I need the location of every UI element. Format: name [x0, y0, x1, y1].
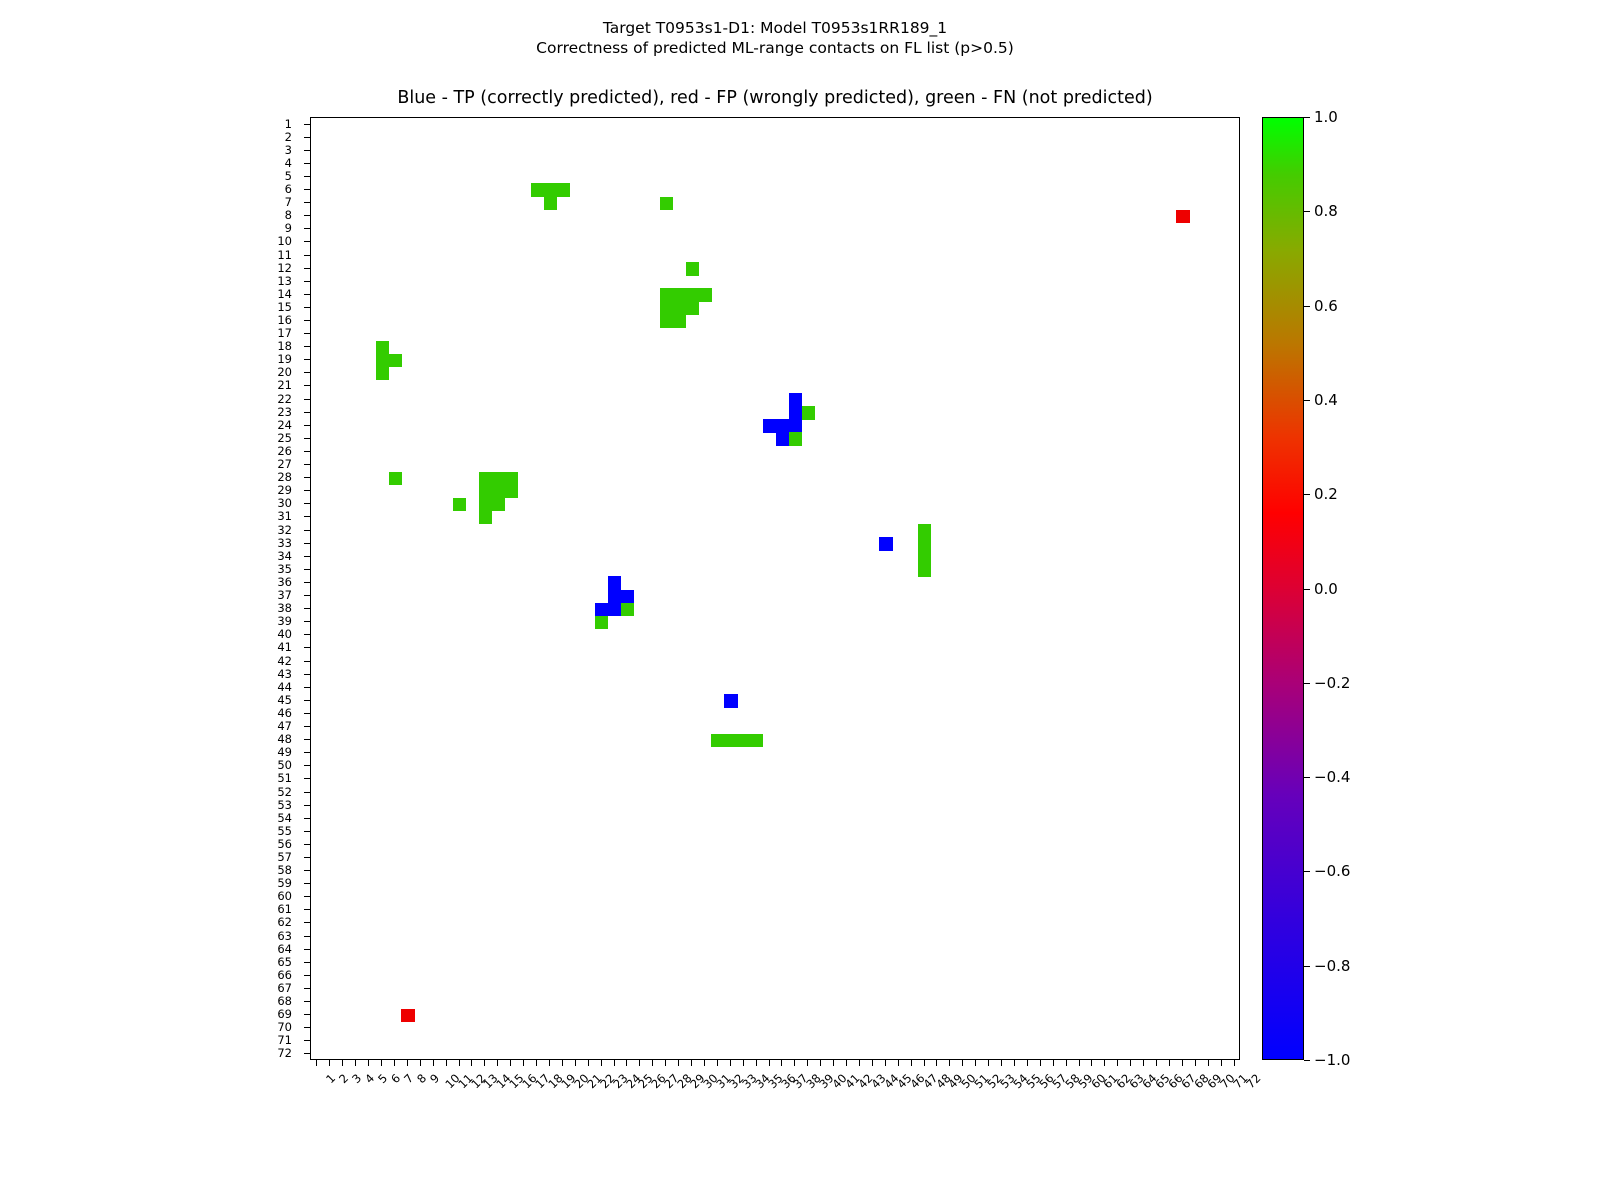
y-tick-label: 6 — [285, 182, 292, 196]
x-tick-mark — [807, 1060, 808, 1066]
contact-cell-fn — [686, 301, 699, 314]
x-tick-mark — [1091, 1060, 1092, 1066]
contact-cell-fn — [699, 288, 712, 301]
y-tick-label: 62 — [277, 915, 292, 929]
x-tick-label: 1 — [324, 1071, 339, 1086]
colorbar-tick-label: −0.2 — [1314, 674, 1350, 692]
contact-cell-layer — [311, 118, 1239, 1059]
x-tick-mark — [949, 1060, 950, 1066]
y-tick-label: 4 — [285, 156, 292, 170]
contact-cell-fn — [918, 550, 931, 563]
contact-cell-fn — [686, 262, 699, 275]
y-tick-label: 9 — [285, 221, 292, 235]
x-tick-mark — [433, 1060, 434, 1066]
contact-cell-fn — [789, 432, 802, 445]
suptitle-line-2: Correctness of predicted ML-range contac… — [0, 38, 1550, 58]
x-tick-mark — [471, 1060, 472, 1066]
x-tick-mark — [549, 1060, 550, 1066]
x-tick-mark — [743, 1060, 744, 1066]
x-tick-mark — [407, 1060, 408, 1066]
contact-cell-fn — [686, 288, 699, 301]
contact-cell-fn — [673, 288, 686, 301]
y-tick-label: 29 — [277, 483, 292, 497]
contact-cell-fn — [389, 472, 402, 485]
y-tick-label: 25 — [277, 431, 292, 445]
colorbar-tick-label: 1.0 — [1314, 108, 1338, 126]
contact-cell-fn — [479, 485, 492, 498]
x-tick-mark — [614, 1060, 615, 1066]
x-tick-mark — [355, 1060, 356, 1066]
y-tick-label: 65 — [277, 955, 292, 969]
y-tick-label: 23 — [277, 405, 292, 419]
colorbar-tick-label: −0.6 — [1314, 862, 1350, 880]
colorbar-tick-mark — [1304, 211, 1310, 212]
y-tick-label: 43 — [277, 667, 292, 681]
y-tick-label: 36 — [277, 575, 292, 589]
contact-cell-tp — [776, 432, 789, 445]
x-tick-mark — [988, 1060, 989, 1066]
x-tick-label: 72 — [1243, 1071, 1263, 1091]
colorbar-tick-label: 0.6 — [1314, 297, 1338, 315]
x-tick-mark — [1169, 1060, 1170, 1066]
x-tick-mark — [1040, 1060, 1041, 1066]
y-tick-label: 15 — [277, 300, 292, 314]
x-tick-mark — [872, 1060, 873, 1066]
colorbar[interactable]: 1.00.80.60.40.20.0−0.2−0.4−0.6−0.8−1.0 — [1262, 117, 1304, 1060]
suptitle-line-1: Target T0953s1-D1: Model T0953s1RR189_1 — [0, 18, 1550, 38]
x-tick-mark — [1014, 1060, 1015, 1066]
x-tick-mark — [846, 1060, 847, 1066]
x-tick-mark — [1104, 1060, 1105, 1066]
contact-cell-fp — [401, 1009, 414, 1022]
x-tick-mark — [1234, 1060, 1235, 1066]
y-tick-label: 52 — [277, 785, 292, 799]
y-tick-label: 17 — [277, 326, 292, 340]
contact-map-plot[interactable] — [310, 117, 1240, 1060]
y-tick-label: 19 — [277, 352, 292, 366]
x-tick-mark — [342, 1060, 343, 1066]
contact-cell-fn — [660, 288, 673, 301]
x-tick-mark — [717, 1060, 718, 1066]
x-tick-label: 5 — [375, 1071, 390, 1086]
contact-cell-fn — [492, 498, 505, 511]
y-tick-label: 21 — [277, 378, 292, 392]
contact-cell-tp — [789, 419, 802, 432]
y-tick-label: 20 — [277, 365, 292, 379]
contact-cell-tp — [776, 419, 789, 432]
x-tick-label: 3 — [349, 1071, 364, 1086]
y-tick-label: 22 — [277, 392, 292, 406]
y-tick-label: 72 — [277, 1046, 292, 1060]
colorbar-tick-mark — [1304, 966, 1310, 967]
x-tick-mark — [536, 1060, 537, 1066]
y-tick-label: 38 — [277, 601, 292, 615]
x-tick-label: 6 — [388, 1071, 403, 1086]
x-tick-mark — [898, 1060, 899, 1066]
x-tick-label: 9 — [427, 1071, 442, 1086]
colorbar-tick-mark — [1304, 589, 1310, 590]
y-tick-label: 60 — [277, 889, 292, 903]
contact-cell-tp — [608, 576, 621, 589]
y-tick-label: 28 — [277, 470, 292, 484]
x-tick-mark — [665, 1060, 666, 1066]
x-tick-mark — [381, 1060, 382, 1066]
colorbar-tick-label: 0.4 — [1314, 391, 1338, 409]
y-tick-label: 59 — [277, 876, 292, 890]
contact-cell-fn — [492, 472, 505, 485]
y-tick-label: 39 — [277, 614, 292, 628]
x-tick-mark — [497, 1060, 498, 1066]
y-tick-label: 53 — [277, 798, 292, 812]
x-tick-mark — [601, 1060, 602, 1066]
y-tick-label: 69 — [277, 1007, 292, 1021]
contact-cell-fn — [724, 734, 737, 747]
x-tick-mark — [510, 1060, 511, 1066]
y-tick-label: 57 — [277, 850, 292, 864]
y-tick-label: 40 — [277, 627, 292, 641]
x-tick-mark — [446, 1060, 447, 1066]
x-tick-mark — [420, 1060, 421, 1066]
colorbar-tick-mark — [1304, 117, 1310, 118]
x-tick-mark — [756, 1060, 757, 1066]
colorbar-tick-mark — [1304, 306, 1310, 307]
y-tick-label: 12 — [277, 261, 292, 275]
x-tick-mark — [1221, 1060, 1222, 1066]
x-tick-label: 7 — [401, 1071, 416, 1086]
y-tick-label: 42 — [277, 654, 292, 668]
y-tick-label: 30 — [277, 496, 292, 510]
contact-cell-fn — [376, 354, 389, 367]
contact-cell-tp — [763, 419, 776, 432]
y-tick-label: 55 — [277, 824, 292, 838]
x-tick-mark — [1027, 1060, 1028, 1066]
colorbar-tick-mark — [1304, 683, 1310, 684]
contact-cell-fn — [376, 341, 389, 354]
x-tick-mark — [562, 1060, 563, 1066]
y-tick-label: 66 — [277, 968, 292, 982]
y-tick-label: 48 — [277, 732, 292, 746]
y-tick-label: 37 — [277, 588, 292, 602]
x-tick-mark — [859, 1060, 860, 1066]
colorbar-tick-mark — [1304, 494, 1310, 495]
x-tick-mark — [1130, 1060, 1131, 1066]
contact-cell-fn — [673, 301, 686, 314]
y-tick-label: 2 — [285, 130, 292, 144]
x-tick-mark — [575, 1060, 576, 1066]
contact-cell-tp — [724, 694, 737, 707]
x-tick-mark — [1117, 1060, 1118, 1066]
contact-cell-fn — [660, 197, 673, 210]
x-tick-mark — [394, 1060, 395, 1066]
contact-cell-fn — [389, 354, 402, 367]
y-tick-label: 8 — [285, 208, 292, 222]
x-tick-mark — [1156, 1060, 1157, 1066]
y-tick-label: 71 — [277, 1033, 292, 1047]
x-tick-mark — [691, 1060, 692, 1066]
colorbar-tick-label: −0.8 — [1314, 957, 1350, 975]
x-tick-mark — [626, 1060, 627, 1066]
y-tick-label: 44 — [277, 680, 292, 694]
x-tick-mark — [459, 1060, 460, 1066]
contact-cell-fn — [479, 498, 492, 511]
x-tick-mark — [794, 1060, 795, 1066]
contact-cell-fn — [802, 406, 815, 419]
x-tick-mark — [1001, 1060, 1002, 1066]
contact-cell-fn — [453, 498, 466, 511]
x-tick-mark — [975, 1060, 976, 1066]
y-tick-label: 18 — [277, 339, 292, 353]
x-tick-mark — [1143, 1060, 1144, 1066]
x-tick-mark — [588, 1060, 589, 1066]
contact-cell-fn — [918, 563, 931, 576]
x-tick-mark — [962, 1060, 963, 1066]
y-tick-label: 35 — [277, 562, 292, 576]
x-tick-mark — [1053, 1060, 1054, 1066]
contact-cell-fn — [660, 301, 673, 314]
y-tick-label: 14 — [277, 287, 292, 301]
y-tick-label: 49 — [277, 745, 292, 759]
x-tick-label: 4 — [362, 1071, 377, 1086]
contact-cell-fn — [737, 734, 750, 747]
contact-cell-fn — [918, 537, 931, 550]
x-tick-mark — [329, 1060, 330, 1066]
y-tick-label: 56 — [277, 837, 292, 851]
contact-cell-tp — [879, 537, 892, 550]
x-tick-mark — [678, 1060, 679, 1066]
contact-cell-fn — [544, 197, 557, 210]
y-tick-label: 64 — [277, 942, 292, 956]
y-tick-label: 58 — [277, 863, 292, 877]
y-axis: 1234567891011121314151617181920212223242… — [0, 117, 310, 1060]
x-tick-mark — [523, 1060, 524, 1066]
colorbar-gradient — [1262, 117, 1304, 1060]
x-tick-label: 2 — [337, 1071, 352, 1086]
contact-cell-tp — [608, 590, 621, 603]
x-tick-mark — [820, 1060, 821, 1066]
y-tick-label: 34 — [277, 549, 292, 563]
contact-cell-fn — [750, 734, 763, 747]
colorbar-tick-mark — [1304, 777, 1310, 778]
y-tick-label: 70 — [277, 1020, 292, 1034]
y-tick-label: 47 — [277, 719, 292, 733]
colorbar-tick-mark — [1304, 1060, 1310, 1061]
y-tick-label: 26 — [277, 444, 292, 458]
contact-cell-tp — [789, 393, 802, 406]
contact-cell-tp — [621, 590, 634, 603]
contact-cell-fn — [711, 734, 724, 747]
contact-cell-fn — [479, 472, 492, 485]
y-tick-label: 54 — [277, 811, 292, 825]
x-tick-mark — [769, 1060, 770, 1066]
y-tick-label: 68 — [277, 994, 292, 1008]
axes-title: Blue - TP (correctly predicted), red - F… — [310, 88, 1240, 108]
y-tick-label: 61 — [277, 902, 292, 916]
contact-cell-fn — [556, 183, 569, 196]
contact-cell-fn — [505, 485, 518, 498]
x-tick-mark — [833, 1060, 834, 1066]
colorbar-tick-label: −1.0 — [1314, 1051, 1350, 1069]
x-tick-mark — [639, 1060, 640, 1066]
x-tick-mark — [1182, 1060, 1183, 1066]
y-tick-label: 41 — [277, 640, 292, 654]
figure-suptitle: Target T0953s1-D1: Model T0953s1RR189_1 … — [0, 18, 1550, 58]
contact-cell-fn — [660, 314, 673, 327]
x-tick-mark — [484, 1060, 485, 1066]
x-axis: 1234567891011121314151617181920212223242… — [310, 1060, 1240, 1180]
y-tick-label: 50 — [277, 758, 292, 772]
colorbar-tick-label: −0.4 — [1314, 768, 1350, 786]
contact-cell-fn — [918, 524, 931, 537]
contact-cell-fn — [505, 472, 518, 485]
contact-cell-fp — [1176, 210, 1189, 223]
x-tick-mark — [1195, 1060, 1196, 1066]
x-tick-mark — [1208, 1060, 1209, 1066]
y-tick-label: 31 — [277, 509, 292, 523]
contact-cell-fn — [544, 183, 557, 196]
colorbar-tick-mark — [1304, 400, 1310, 401]
x-tick-mark — [781, 1060, 782, 1066]
x-tick-mark — [730, 1060, 731, 1066]
y-tick-label: 5 — [285, 169, 292, 183]
contact-cell-fn — [531, 183, 544, 196]
y-tick-label: 16 — [277, 313, 292, 327]
x-tick-mark — [911, 1060, 912, 1066]
x-tick-mark — [924, 1060, 925, 1066]
colorbar-tick-mark — [1304, 871, 1310, 872]
y-tick-label: 27 — [277, 457, 292, 471]
x-tick-mark — [885, 1060, 886, 1066]
contact-cell-fn — [621, 603, 634, 616]
colorbar-tick-label: 0.2 — [1314, 485, 1338, 503]
y-tick-label: 10 — [277, 234, 292, 248]
contact-cell-fn — [479, 511, 492, 524]
colorbar-tick-label: 0.8 — [1314, 202, 1338, 220]
x-tick-mark — [1066, 1060, 1067, 1066]
contact-cell-tp — [789, 406, 802, 419]
y-tick-label: 11 — [277, 248, 292, 262]
x-tick-mark — [316, 1060, 317, 1066]
y-tick-label: 13 — [277, 274, 292, 288]
x-tick-mark — [368, 1060, 369, 1066]
contact-cell-fn — [492, 485, 505, 498]
contact-cell-fn — [595, 616, 608, 629]
y-tick-label: 67 — [277, 981, 292, 995]
contact-cell-fn — [376, 367, 389, 380]
y-tick-label: 46 — [277, 706, 292, 720]
contact-cell-fn — [673, 314, 686, 327]
y-tick-label: 32 — [277, 523, 292, 537]
colorbar-tick-label: 0.0 — [1314, 580, 1338, 598]
x-tick-mark — [652, 1060, 653, 1066]
x-tick-mark — [936, 1060, 937, 1066]
contact-cell-tp — [608, 603, 621, 616]
y-tick-label: 3 — [285, 143, 292, 157]
x-tick-mark — [704, 1060, 705, 1066]
y-tick-label: 33 — [277, 536, 292, 550]
x-tick-label: 8 — [414, 1071, 429, 1086]
y-tick-label: 1 — [285, 117, 292, 131]
y-tick-label: 7 — [285, 195, 292, 209]
x-tick-mark — [1079, 1060, 1080, 1066]
contact-cell-tp — [595, 603, 608, 616]
y-tick-label: 51 — [277, 771, 292, 785]
y-tick-label: 24 — [277, 418, 292, 432]
y-tick-label: 63 — [277, 929, 292, 943]
y-tick-label: 45 — [277, 693, 292, 707]
